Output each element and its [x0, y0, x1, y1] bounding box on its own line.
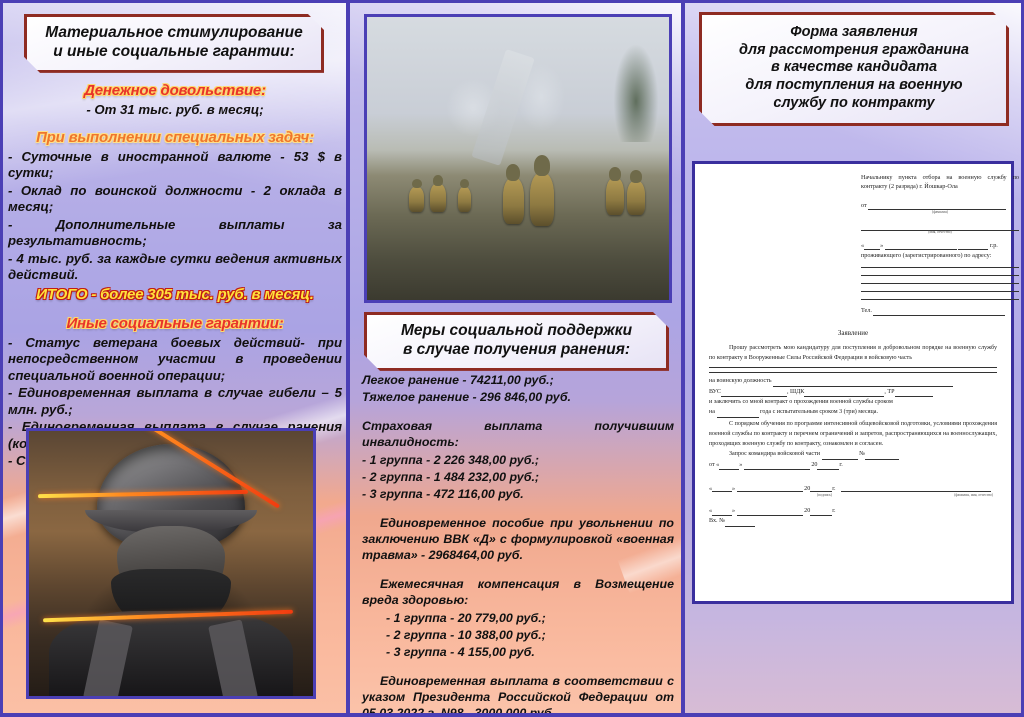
sign-month-input[interactable]	[737, 484, 803, 492]
incoming-number-input[interactable]	[725, 519, 755, 527]
monthly-compensation-title: Ежемесячная компенсация в Возмещение вре…	[362, 576, 674, 608]
brochure-sheet: Материальное стимулирование и иные социа…	[0, 0, 1024, 717]
tree-shape	[612, 40, 660, 142]
left-header-line-1: Материальное стимулирование	[33, 24, 315, 43]
sign-year-suffix: г.	[832, 486, 835, 492]
shdk-label: , ШДК	[787, 389, 804, 395]
form-paragraph-2: С порядком обучения по программе интенси…	[709, 420, 997, 450]
address-input-line[interactable]	[861, 275, 1019, 276]
term-years-input[interactable]	[717, 410, 759, 418]
address-input-line[interactable]	[861, 291, 1019, 292]
request-date-quote: »	[739, 462, 742, 468]
right-header-line-1: Форма заявления	[710, 24, 998, 42]
sign-date-quote-close: »	[732, 486, 735, 492]
special-task-item: - Суточные в иностранной валюте - 53 $ в…	[8, 149, 342, 182]
discharge-allowance: Единовременное пособие при увольнении по…	[362, 515, 674, 563]
sign-day-input[interactable]	[712, 484, 732, 492]
vus-input-line[interactable]	[721, 389, 787, 397]
position-input-line[interactable]	[773, 379, 953, 387]
form-dob-row: «» г.р.	[861, 241, 1019, 250]
form-paragraph-1: Прошу рассмотреть мою кандидатуру для по…	[709, 344, 997, 364]
form-request-date-row: от «» 20г.	[709, 460, 997, 470]
sign-year-input[interactable]	[810, 484, 832, 492]
request-year-input[interactable]	[817, 462, 839, 470]
right-header-line-2: для рассмотрения гражданина	[710, 42, 998, 60]
right-panel-header-plaque: Форма заявления для рассмотрения граждан…	[699, 12, 1009, 126]
special-task-item: - Оклад по воинской должности - 2 оклада…	[8, 183, 342, 216]
total-monthly-pay: ИТОГО - более 305 тыс. руб. в месяц.	[8, 286, 342, 303]
request-date-prefix: от «	[709, 462, 719, 468]
pay-section-title: Денежное довольствие:	[8, 82, 342, 99]
special-task-item: - 4 тыс. руб. за каждые сутки ведения ак…	[8, 251, 342, 284]
incoming-month-input[interactable]	[737, 508, 803, 516]
surname-caption: (фамилия)	[861, 211, 1019, 215]
fio-caption: (фамилия, имя, отчество)	[954, 493, 993, 497]
disability-group-item: - 1 группа - 2 226 348,00 руб.;	[362, 452, 674, 468]
mid-header-line-1: Меры социальной поддержки	[373, 322, 660, 341]
soldier-figure	[503, 178, 524, 223]
left-header-line-2: и иные социальные гарантии:	[33, 43, 315, 62]
panel-right: Форма заявления для рассмотрения граждан…	[683, 0, 1024, 717]
right-header-line-4: для поступления на военную	[710, 77, 998, 95]
vus-label: ВУС	[709, 389, 721, 395]
form-signature-block: «» 20г. (подпись) (фамилия, имя, отчеств…	[709, 483, 997, 497]
incoming-day-input[interactable]	[712, 508, 732, 516]
disability-group-item: - 3 группа - 472 116,00 руб.	[362, 486, 674, 502]
mid-panel-body: Легкое ранение - 74211,00 руб.; Тяжелое …	[362, 372, 674, 717]
form-phone-row: Тел.	[861, 306, 1019, 315]
application-form-document: Начальнику пункта отбора на военную служ…	[692, 161, 1014, 604]
dob-suffix: г.р.	[990, 242, 998, 249]
form-from-row: от (фамилия)	[861, 201, 1019, 214]
panel-divider-1	[346, 0, 350, 717]
request-year-suffix: г.	[839, 462, 842, 468]
special-tasks-title: При выполнении специальных задач:	[8, 129, 342, 146]
mid-panel-header-plaque: Меры социальной поддержки в случае получ…	[364, 312, 669, 371]
form-residence-label: проживающего (зарегистрированного) по ад…	[861, 251, 1019, 260]
tr-label: , ТР	[884, 389, 894, 395]
severe-wound-payment: Тяжелое ранение - 296 846,00 руб.	[362, 389, 674, 405]
disability-insurance-title: Страховая выплата получившим инвалидност…	[362, 418, 674, 450]
incoming-year-suffix: г.	[832, 508, 835, 514]
soldier-illustration	[29, 431, 313, 696]
soldier-portrait-photo	[26, 428, 316, 699]
from-label: от	[861, 202, 867, 209]
term-prefix: на	[709, 409, 715, 415]
request-label: Запрос командира войсковой части	[729, 451, 820, 457]
sheet-left-border	[0, 0, 3, 717]
incoming-date-quote-close: »	[732, 508, 735, 514]
position-label: на воинскую должность	[709, 378, 772, 384]
form-incoming-number-row: Вх. №	[709, 516, 997, 526]
light-wound-payment: Легкое ранение - 74211,00 руб.;	[362, 372, 674, 388]
sheet-bottom-border	[0, 713, 1024, 717]
soldier-figure	[530, 173, 554, 227]
address-input-line[interactable]	[861, 283, 1019, 284]
request-unit-input[interactable]	[822, 452, 858, 460]
dob-day-input[interactable]	[864, 242, 880, 250]
request-day-input[interactable]	[719, 462, 739, 470]
disability-group-item: - 2 группа - 1 484 232,00 руб.;	[362, 469, 674, 485]
incoming-year-input[interactable]	[810, 508, 832, 516]
form-contract-line-1: и заключить со мной контракт о прохожден…	[709, 397, 997, 407]
pay-item: - От 31 тыс. руб. в месяц;	[8, 102, 342, 119]
form-name-row: (имя, отчество)	[861, 221, 1019, 234]
phone-input-line[interactable]	[873, 308, 1005, 316]
dob-month-input[interactable]	[885, 242, 957, 250]
form-position-row: на воинскую должность	[709, 376, 997, 386]
training-field-illustration	[367, 17, 669, 300]
compensation-group-item: - 1 группа - 20 779,00 руб.;	[362, 610, 674, 626]
address-input-line[interactable]	[861, 299, 1019, 300]
form-address-lines	[861, 267, 1019, 300]
form-contract-line-2: на года с испытательным сроком 3 (три) м…	[709, 407, 997, 417]
incoming-number-label: Вх. №	[709, 518, 725, 524]
sheet-top-border	[0, 0, 1024, 3]
soldier-figure	[627, 181, 645, 215]
left-panel-header-plaque: Материальное стимулирование и иные социа…	[24, 14, 324, 73]
other-guarantees-title: Иные социальные гарантии:	[8, 315, 342, 332]
presidential-decree-payment: Единовременная выплата в соответствии с …	[362, 673, 674, 717]
special-task-item: - Дополнительные выплаты за результативн…	[8, 217, 342, 250]
form-vus-row: ВУС, ШДК, ТР	[709, 387, 997, 397]
signature-captions: (подпись) (фамилия, имя, отчество)	[817, 493, 993, 497]
guarantee-item: - Статус ветерана боевых действий- при н…	[8, 335, 342, 385]
right-header-line-3: в качестве кандидата	[710, 59, 998, 77]
soldier-figure	[430, 184, 445, 212]
tr-input-line[interactable]	[895, 389, 933, 397]
address-input-line[interactable]	[861, 267, 1019, 268]
dob-quote-close: »	[880, 242, 883, 249]
term-suffix: года с испытательным сроком 3 (три) меся…	[760, 409, 878, 415]
right-header-line-5: службу по контракту	[710, 95, 998, 113]
soldier-figure	[606, 178, 624, 215]
shdk-input-line[interactable]	[804, 389, 884, 397]
panel-left: Материальное стимулирование и иные социа…	[0, 0, 348, 717]
compensation-group-item: - 3 группа - 4 155,00 руб.	[362, 644, 674, 660]
compensation-group-item: - 2 группа - 10 388,00 руб.;	[362, 627, 674, 643]
form-title: Заявление	[709, 329, 997, 337]
request-number-input[interactable]	[865, 452, 899, 460]
soldier-figure	[458, 187, 472, 212]
form-request-row: Запрос командира войсковой части №	[709, 449, 997, 459]
soldier-figure	[409, 187, 424, 212]
form-incoming-date-row: «» 20г.	[709, 506, 997, 516]
phone-label: Тел.	[861, 307, 872, 314]
mortar-crew-training-photo	[364, 14, 672, 303]
panel-divider-2	[681, 0, 685, 717]
dob-year-input[interactable]	[958, 242, 988, 250]
mid-header-line-2: в случае получения ранения:	[373, 341, 660, 360]
form-addressee: Начальнику пункта отбора на военную служ…	[861, 174, 1019, 192]
signature-input-line[interactable]	[841, 483, 991, 492]
panel-middle: Меры социальной поддержки в случае получ…	[348, 0, 683, 717]
guarantee-item: - Единовременная выплата в случае гибели…	[8, 385, 342, 418]
name-patronymic-caption: (имя, отчество)	[861, 231, 1019, 235]
request-month-input[interactable]	[744, 462, 810, 470]
left-panel-body: Денежное довольствие: - От 31 тыс. руб. …	[8, 82, 342, 471]
unit-input-line[interactable]	[709, 367, 997, 368]
signature-caption: (подпись)	[817, 493, 832, 497]
unit-input-line-2[interactable]	[709, 372, 997, 373]
